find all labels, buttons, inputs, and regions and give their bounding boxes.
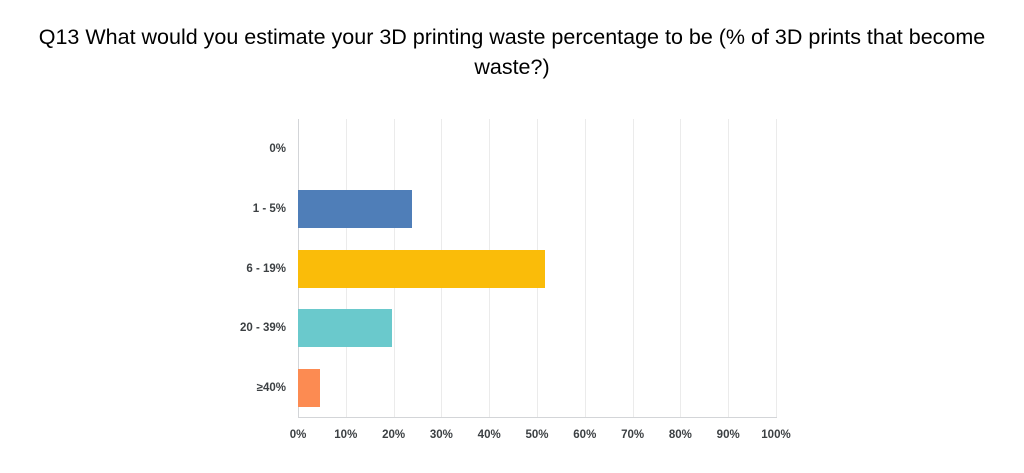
x-axis-tick-label: 70% xyxy=(621,428,644,442)
x-axis-tick-labels: 0%10%20%30%40%50%60%70%80%90%100% xyxy=(298,428,776,448)
x-axis-tick-label: 80% xyxy=(669,428,692,442)
x-axis-tick-label: 0% xyxy=(290,428,307,442)
x-axis-tick-label: 40% xyxy=(478,428,501,442)
bar-row xyxy=(298,119,776,179)
y-axis-label: 6 - 19% xyxy=(86,263,286,275)
bar-1-5[interactable] xyxy=(298,190,412,228)
y-axis-label: ≥40% xyxy=(86,382,286,394)
x-axis-tick-label: 90% xyxy=(717,428,740,442)
bar-row xyxy=(298,239,776,299)
y-axis-label: 20 - 39% xyxy=(86,322,286,334)
x-axis-tick-label: 10% xyxy=(334,428,357,442)
gridline-100pct xyxy=(776,119,777,418)
x-axis-line xyxy=(298,417,777,418)
y-axis-label: 0% xyxy=(86,143,286,155)
x-axis-tick-label: 30% xyxy=(430,428,453,442)
bar-row xyxy=(298,298,776,358)
bar-row xyxy=(298,179,776,239)
plot-wrapper: 0%1 - 5%6 - 19%20 - 39%≥40% 0%10%20%30%4… xyxy=(0,0,1024,473)
bar-20-39[interactable] xyxy=(298,309,392,347)
bar-40[interactable] xyxy=(298,369,320,407)
x-axis-tick-label: 50% xyxy=(525,428,548,442)
y-axis-label: 1 - 5% xyxy=(86,203,286,215)
y-axis-category-labels: 0%1 - 5%6 - 19%20 - 39%≥40% xyxy=(88,119,298,418)
plot-area xyxy=(298,119,776,418)
x-axis-tick-label: 100% xyxy=(761,428,790,442)
bar-row xyxy=(298,358,776,418)
x-axis-tick-label: 20% xyxy=(382,428,405,442)
bar-6-19[interactable] xyxy=(298,250,545,288)
chart-container: Q13 What would you estimate your 3D prin… xyxy=(0,0,1024,473)
x-axis-tick-label: 60% xyxy=(573,428,596,442)
